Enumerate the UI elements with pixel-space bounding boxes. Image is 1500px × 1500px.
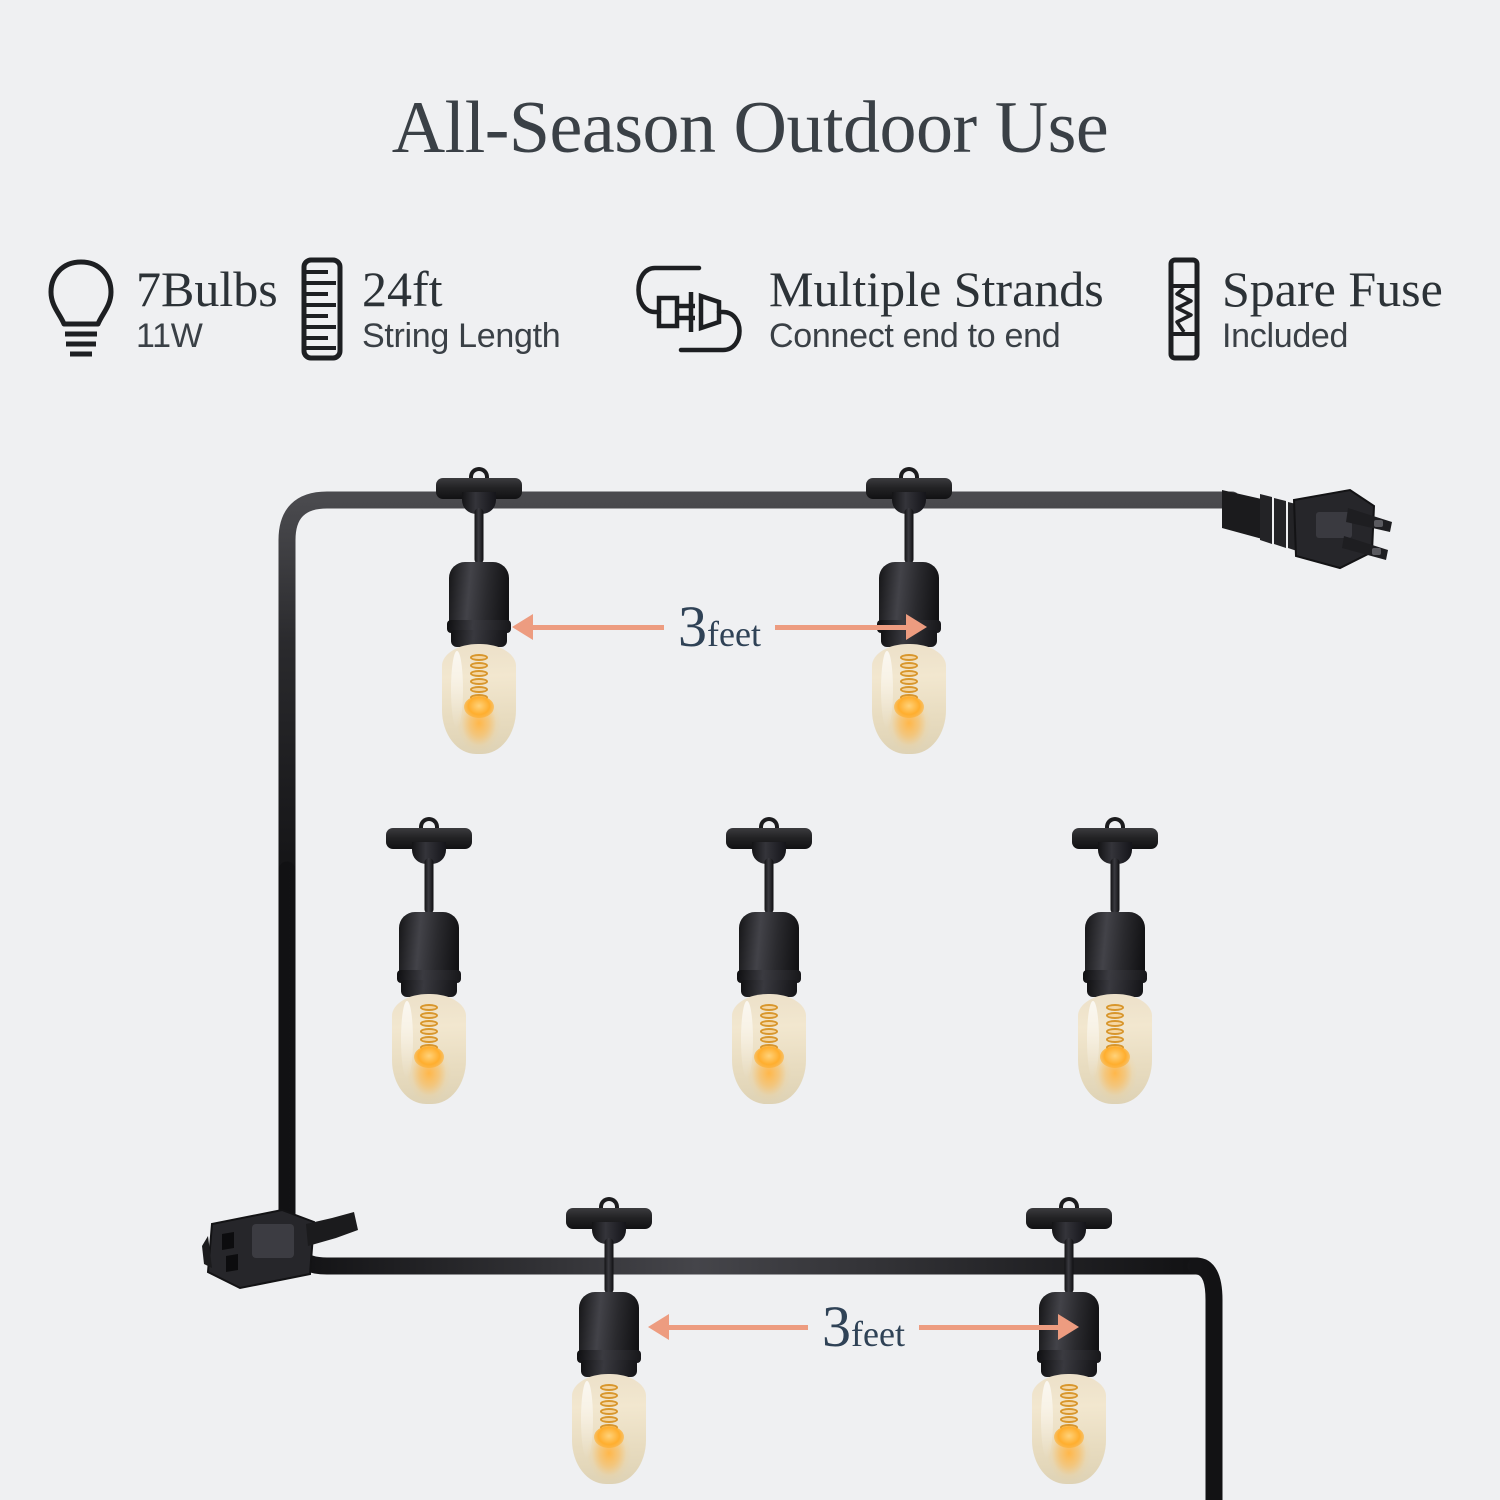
bulb-filament — [466, 652, 492, 714]
male-plug-2-prong — [1222, 478, 1397, 588]
socket-tee-junction — [566, 1208, 652, 1242]
socket-tee-junction — [726, 828, 812, 862]
dimension-value-row3: 3feet — [822, 1298, 905, 1356]
socket-tee-junction — [1026, 1208, 1112, 1242]
bulb-filament — [896, 652, 922, 714]
hanging-bulb-4 — [726, 828, 812, 862]
socket-tee-junction — [386, 828, 472, 862]
infographic-page: All-Season Outdoor Use 7Bulbs 11W — [0, 0, 1500, 1500]
bulb-glass — [442, 644, 516, 754]
feature-bulbs-primary: 7Bulbs — [136, 262, 278, 316]
fuse-icon — [1162, 256, 1206, 362]
feature-multiple-strands-primary: Multiple Strands — [769, 262, 1104, 316]
bulb-glass — [1078, 994, 1152, 1104]
feature-spare-fuse-secondary: Included — [1222, 316, 1443, 356]
bulb-filament — [596, 1382, 622, 1444]
feature-highlights-row: 7Bulbs 11W 24ft String Length — [40, 252, 1460, 372]
hanging-bulb-3 — [386, 828, 472, 862]
dimension-value-row1: 3feet — [678, 598, 761, 656]
bulb-glass — [732, 994, 806, 1104]
hanging-bulb-1 — [436, 478, 522, 512]
hanging-bulb-7 — [1026, 1208, 1112, 1242]
dimension-label-row3: 3feet — [648, 1298, 1079, 1356]
bulb-filament — [416, 1002, 442, 1064]
feature-spare-fuse-primary: Spare Fuse — [1222, 262, 1443, 316]
plug-connector-icon — [625, 256, 753, 362]
feature-multiple-strands-secondary: Connect end to end — [769, 316, 1104, 356]
bulb-filament — [756, 1002, 782, 1064]
ruler-icon — [298, 256, 346, 362]
bulb-glass — [572, 1374, 646, 1484]
feature-spare-fuse: Spare Fuse Included — [1162, 256, 1443, 362]
socket-tee-junction — [436, 478, 522, 512]
string-light-layout-diagram: 3feet 3feet — [0, 400, 1500, 1500]
bulb-filament — [1056, 1382, 1082, 1444]
feature-string-length-primary: 24ft — [362, 262, 560, 316]
hanging-bulb-2 — [866, 478, 952, 512]
female-socket-end — [196, 1202, 366, 1302]
socket-tee-junction — [866, 478, 952, 512]
bulb-glass — [872, 644, 946, 754]
bulb-glass — [1032, 1374, 1106, 1484]
page-title: All-Season Outdoor Use — [0, 86, 1500, 171]
bulb-filament — [1102, 1002, 1128, 1064]
socket-tee-junction — [1072, 828, 1158, 862]
light-bulb-icon — [42, 256, 120, 362]
feature-string-length-secondary: String Length — [362, 316, 560, 356]
feature-bulbs-secondary: 11W — [136, 316, 278, 356]
dimension-label-row1: 3feet — [512, 598, 927, 656]
hanging-bulb-5 — [1072, 828, 1158, 862]
bulb-glass — [392, 994, 466, 1104]
feature-multiple-strands: Multiple Strands Connect end to end — [625, 256, 1104, 362]
hanging-bulb-6 — [566, 1208, 652, 1242]
feature-bulbs: 7Bulbs 11W — [42, 256, 278, 362]
feature-string-length: 24ft String Length — [298, 256, 560, 362]
